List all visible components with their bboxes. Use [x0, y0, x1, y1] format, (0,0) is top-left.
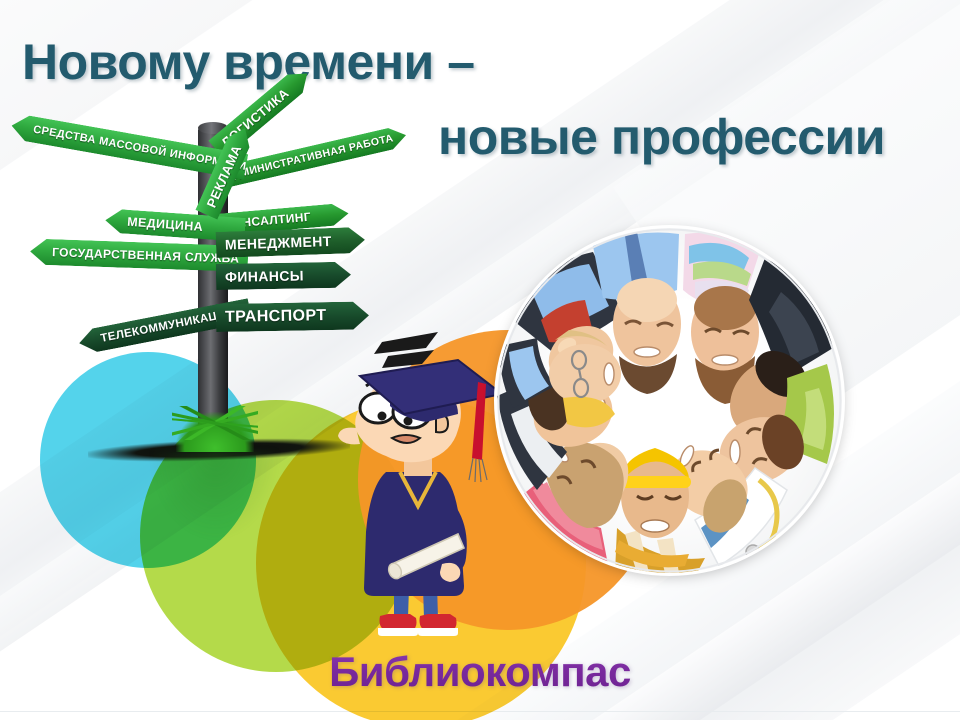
footer-title: Библиокомпас: [0, 648, 960, 696]
sign-menedzhment: МЕНЕДЖМЕНТ: [216, 227, 366, 258]
sign-label: ГОСУДАРСТВЕННАЯ СЛУЖБА: [52, 245, 240, 266]
sneaker-right: [418, 614, 458, 636]
presentation-slide: РЕКЛАМА СРЕДСТВА МАССОВОЙ ИНФОРМАЦИИ ЛОГ…: [0, 0, 960, 720]
sign-transport: ТРАНСПОРТ: [216, 301, 369, 332]
sign-label: АДМИНИСТРАТИВНАЯ РАБОТА: [223, 132, 394, 183]
page-title-line-1: Новому времени –: [22, 33, 475, 91]
people-huddle-photo: [497, 228, 842, 573]
grass-tuft: [176, 412, 254, 452]
signpost-reflection: [150, 450, 280, 540]
sign-label: МЕНЕДЖМЕНТ: [225, 233, 332, 253]
sign-label: ФИНАНСЫ: [225, 267, 304, 284]
sign-label: ТРАНСПОРТ: [225, 307, 327, 327]
page-title-line-2: новые профессии: [438, 108, 885, 166]
flying-cap-icon: [374, 332, 438, 368]
sign-finansy: ФИНАНСЫ: [216, 262, 351, 290]
cartoon-graduate: [330, 320, 520, 650]
sign-label: МЕДИЦИНА: [127, 215, 204, 234]
sneaker-left: [378, 614, 418, 636]
